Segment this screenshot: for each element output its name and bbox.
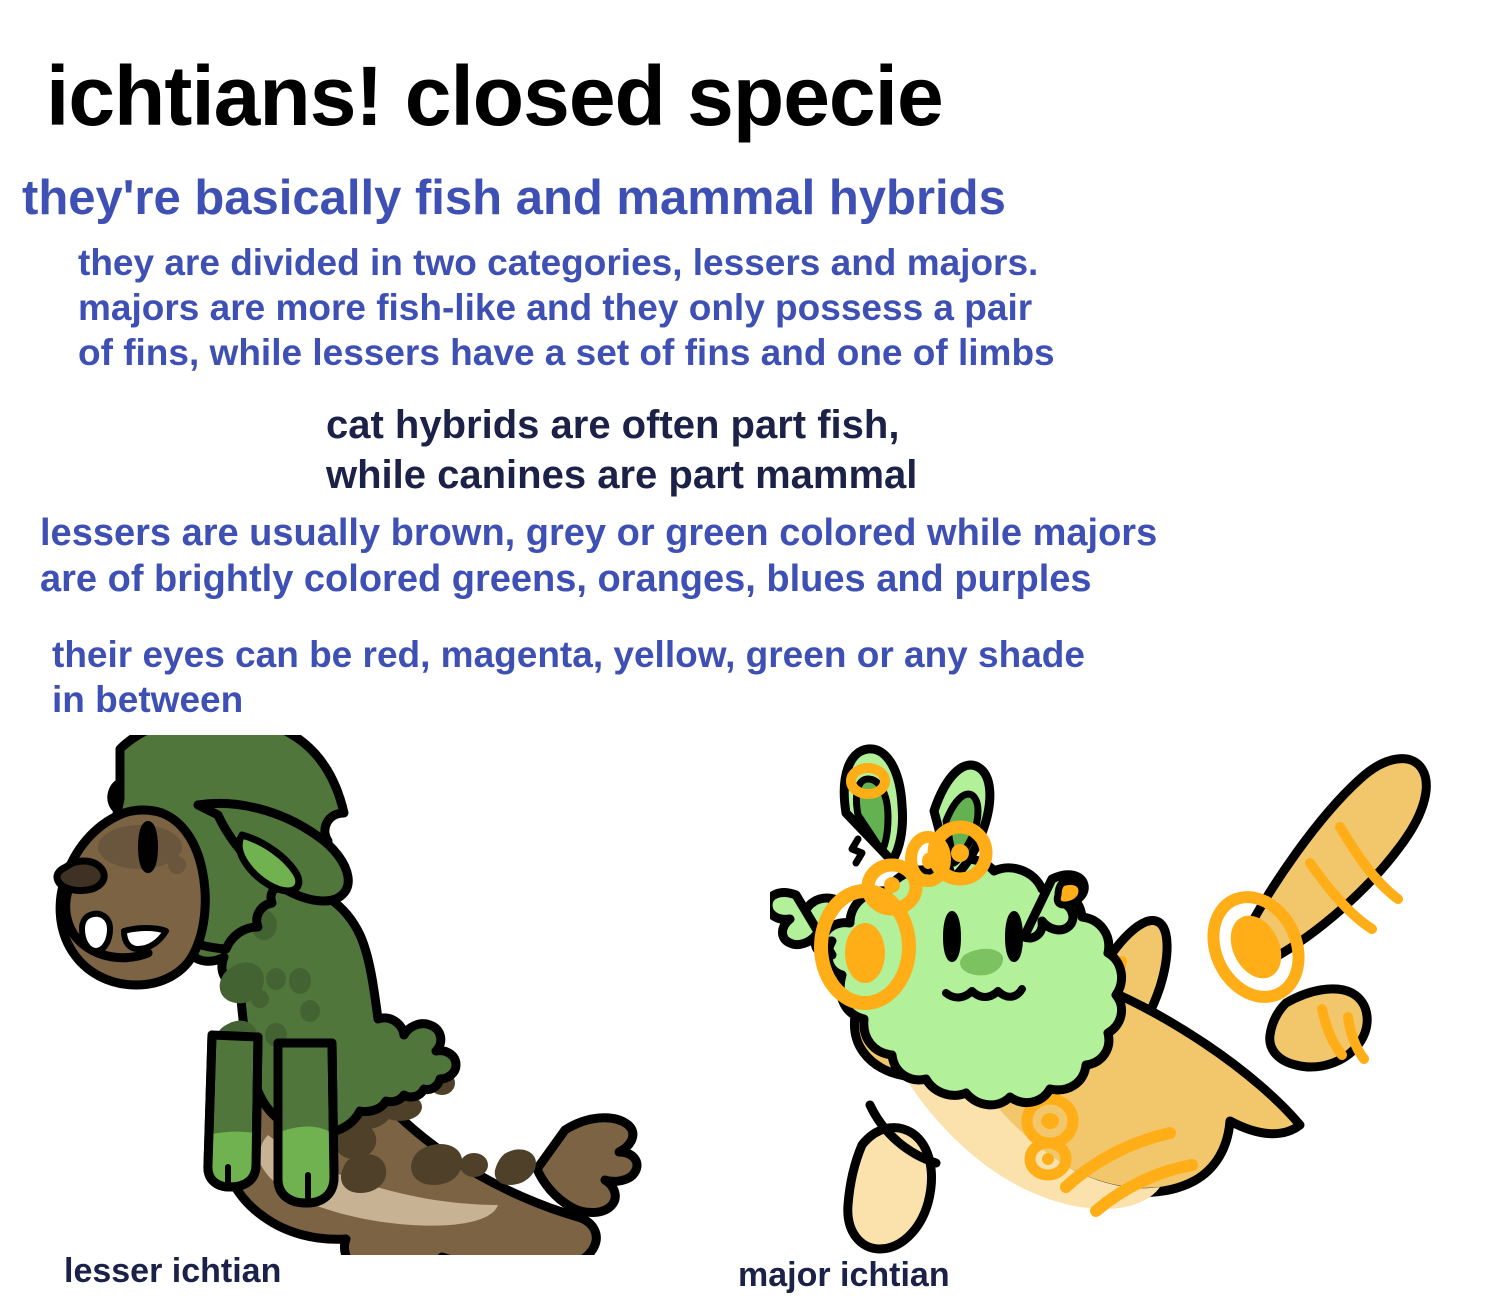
page-subtitle: they're basically fish and mammal hybrid… [22, 174, 1006, 223]
description-line: of fins, while lessers have a set of fin… [78, 330, 1055, 375]
description-block-categories: they are divided in two categories, less… [78, 240, 1055, 375]
lesser-ichtian-illustration [20, 735, 680, 1255]
description-block-hybrid-types: cat hybrids are often part fish, while c… [326, 400, 917, 500]
description-block-colors: lessers are usually brown, grey or green… [40, 510, 1157, 603]
description-line: are of brightly colored greens, oranges,… [40, 556, 1157, 602]
description-line: majors are more fish-like and they only … [78, 285, 1055, 330]
page-title: ichtians! closed specie [46, 54, 943, 138]
description-line: while canines are part mammal [326, 450, 917, 500]
major-ichtian-caption: major ichtian [738, 1256, 950, 1295]
description-line: their eyes can be red, magenta, yellow, … [52, 632, 1085, 677]
lesser-ichtian-caption: lesser ichtian [64, 1252, 281, 1291]
description-line: cat hybrids are often part fish, [326, 400, 917, 450]
description-line: lessers are usually brown, grey or green… [40, 510, 1157, 556]
poster-canvas: ichtians! closed specie they're basicall… [0, 0, 1500, 1300]
major-ichtian-illustration [770, 735, 1480, 1255]
description-line: they are divided in two categories, less… [78, 240, 1055, 285]
description-line: in between [52, 677, 1085, 722]
description-block-eyes: their eyes can be red, magenta, yellow, … [52, 632, 1085, 722]
